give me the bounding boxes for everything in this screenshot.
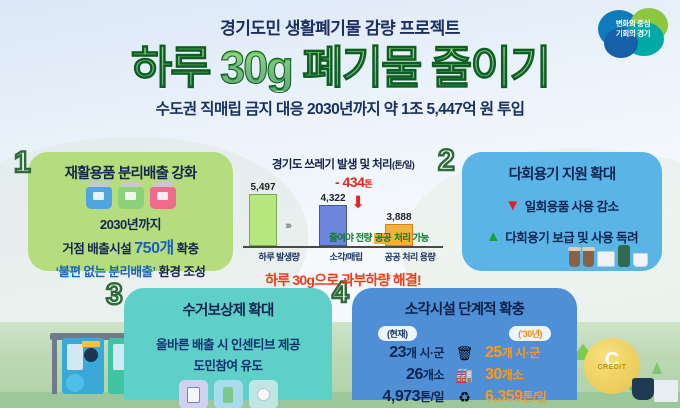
chart-bar-0: 5,497 (249, 194, 277, 246)
poster-header: 경기도민 생활폐기물 감량 프로젝트 하루 30g 폐기물 줄이기 수도권 직매… (0, 14, 680, 119)
chart-plot-area: 5,497 ››› 4,322 3,888 - 434톤 ⬇ 줄여야 전량 공공… (243, 176, 443, 248)
chart-annotation-note: 줄여야 전량 공공 처리 가능 (329, 230, 429, 244)
section-badge-1: 1 (14, 148, 30, 178)
reusable-containers-icon (569, 245, 648, 267)
chart-progress-marker: ››› (285, 220, 290, 232)
note-highlight: 공공 (374, 233, 392, 244)
chart-value-0: 5,497 (250, 182, 275, 193)
waste-chart: 경기도 쓰레기 발생 및 처리(톤/일) 5,497 ››› 4,322 3,8… (243, 156, 443, 276)
reduction-unit: 톤 (364, 179, 372, 189)
shopping-bag-icon (632, 378, 654, 400)
note-pre: 줄여야 전량 (329, 233, 374, 244)
section-2-title: 다회용기 지원 확대 (462, 152, 662, 184)
chart-value-2: 3,888 (386, 212, 411, 223)
section-card-2: 2 다회용기 지원 확대 ▼ 일회용품 사용 감소 ▲ 다회용기 보급 및 사용… (462, 152, 662, 271)
globe-icon (66, 374, 84, 392)
row-2-future: 6,359톤/일 (485, 388, 567, 406)
chart-value-1: 4,322 (320, 193, 345, 204)
reduction-amount: - 434 (335, 174, 364, 190)
paper-roll-icon (249, 380, 278, 408)
section-3-line-2: 도민참여 유도 (124, 355, 332, 374)
logo-line-2: 기회의 경기 (596, 29, 670, 39)
row-2-current-number: 4,973 (383, 388, 421, 405)
table-row: 23개 시·군 🗑 25개 시·군 (362, 343, 567, 363)
s1-l2-post: 확충 (174, 242, 199, 256)
pedestal-box (654, 380, 678, 402)
incinerator-table: (현재) (’30년) 23개 시·군 🗑 25개 시·군 26개소 🏭 30개… (352, 326, 577, 407)
trash-bag-icon (179, 380, 208, 408)
section-badge-3: 3 (106, 280, 122, 310)
infographic-poster: 경기도민 생활폐기물 감량 프로젝트 하루 30g 폐기물 줄이기 수도권 직매… (0, 0, 680, 408)
gyeonggi-brand-logo: 변화의 중심 기회의 경기 (596, 6, 670, 58)
arrow-up-icon: ▲ (486, 229, 500, 244)
s1-l3-post: 환경 조성 (155, 265, 205, 279)
note-post: 처리 가능 (392, 233, 429, 244)
section-3-title: 수거보상제 확대 (124, 288, 332, 320)
factory-icon: 🏭 (452, 365, 478, 385)
plant-icon (652, 362, 662, 374)
chart-title-unit: (톤/일) (392, 160, 414, 170)
row-1-current: 26개소 (362, 366, 444, 384)
section-2-bullet-2: ▲ 다회용기 보급 및 사용 독려 (462, 227, 662, 246)
row-1-current-unit: 개소 (423, 368, 444, 382)
row-1-future: 30개소 (485, 366, 567, 384)
row-0-future-unit: 개 시·군 (502, 346, 540, 360)
s1-facility-count: 750개 (134, 240, 173, 257)
section-card-3: 3 수거보상제 확대 올바른 배출 시 인센티브 제공 도민참여 유도 (124, 288, 332, 400)
row-2-current-unit: 톤/일 (420, 390, 444, 404)
row-0-current: 23개 시·군 (362, 344, 444, 362)
section-card-4: 4 소각시설 단계적 확충 (현재) (’30년) 23개 시·군 🗑 25개 … (352, 288, 577, 400)
section-3-icons (124, 380, 332, 408)
column-header-current: (현재) (378, 326, 417, 341)
can-recycle-icon (214, 380, 243, 408)
section-card-1: 재활용품 분리배출 강화 2030년까지 거점 배출시설 750개 확충 ‘불편… (28, 152, 233, 271)
chart-annotation-reduction: - 434톤 (335, 174, 372, 190)
chart-axis-line (243, 246, 443, 248)
s1-l2-pre: 거점 배출시설 (62, 242, 134, 256)
row-1-future-unit: 개소 (502, 368, 523, 382)
row-2-current: 4,973톤/일 (362, 388, 444, 406)
column-header-2030: (’30년) (509, 326, 551, 341)
header-kicker: 경기도민 생활폐기물 감량 프로젝트 (0, 14, 680, 39)
row-0-future: 25개 시·군 (485, 344, 567, 362)
trash-bag-icon: 🗑 (452, 343, 478, 363)
row-2-future-number: 6,359 (485, 388, 523, 405)
section-4-title: 소각시설 단계적 확충 (352, 288, 577, 319)
row-1-future-number: 30 (485, 366, 502, 383)
section-3-line-1: 올바른 배출 시 인센티브 제공 (124, 334, 332, 353)
row-1-current-number: 26 (406, 366, 423, 383)
logo-line-1: 변화의 중심 (596, 19, 670, 29)
row-0-current-number: 23 (389, 344, 406, 361)
chart-title: 경기도 쓰레기 발생 및 처리(톤/일) (243, 156, 443, 172)
arrow-down-icon: ▼ (505, 198, 519, 213)
header-subline: 수도권 직매립 금지 대응 2030년까지 약 1조 5,447억 원 투입 (0, 97, 680, 119)
section-2-bullet-1-label: 일회용품 사용 감소 (525, 196, 619, 215)
section-1-title: 재활용품 분리배출 강화 (28, 152, 233, 183)
recycling-bins-icon (28, 187, 233, 209)
chart-title-text: 경기도 쓰레기 발생 및 처리 (272, 159, 392, 171)
logo-text: 변화의 중심 기회의 경기 (596, 19, 670, 39)
section-1-line-1: 2030년까지 (28, 214, 233, 233)
table-header-row: (현재) (’30년) (362, 326, 567, 341)
chart-x-label-2: 공공 처리 용량 (377, 250, 443, 263)
chart-x-label-0: 하루 발생량 (243, 250, 315, 263)
table-row: 26개소 🏭 30개소 (362, 365, 567, 385)
section-2-bullet-1: ▼ 일회용품 사용 감소 (462, 196, 662, 215)
section-2-bullet-2-label: 다회용기 보급 및 사용 독려 (505, 227, 638, 246)
s1-slogan: ‘불편 없는 분리배출’ (56, 265, 156, 279)
row-0-current-unit: 개 시·군 (406, 346, 444, 360)
chart-x-label-1: 소각/매립 (315, 250, 377, 263)
chart-footer-slogan: 하루 30g으로 과부하량 해결! (243, 270, 443, 290)
waste-pile-icon: ♻ (452, 387, 478, 407)
row-2-future-unit: 톤/일 (523, 390, 547, 404)
page-title: 하루 30g 폐기물 줄이기 (0, 44, 680, 91)
section-1-line-2: 거점 배출시설 750개 확충 (28, 234, 233, 258)
row-0-future-number: 25 (485, 344, 502, 361)
section-1-line-3: ‘불편 없는 분리배출’ 환경 조성 (28, 261, 233, 280)
annotation-down-arrow-icon: ⬇ (351, 194, 365, 211)
table-row: 4,973톤/일 ♻ 6,359톤/일 (362, 387, 567, 407)
chart-x-labels: 하루 발생량 소각/매립 공공 처리 용량 (243, 250, 443, 263)
